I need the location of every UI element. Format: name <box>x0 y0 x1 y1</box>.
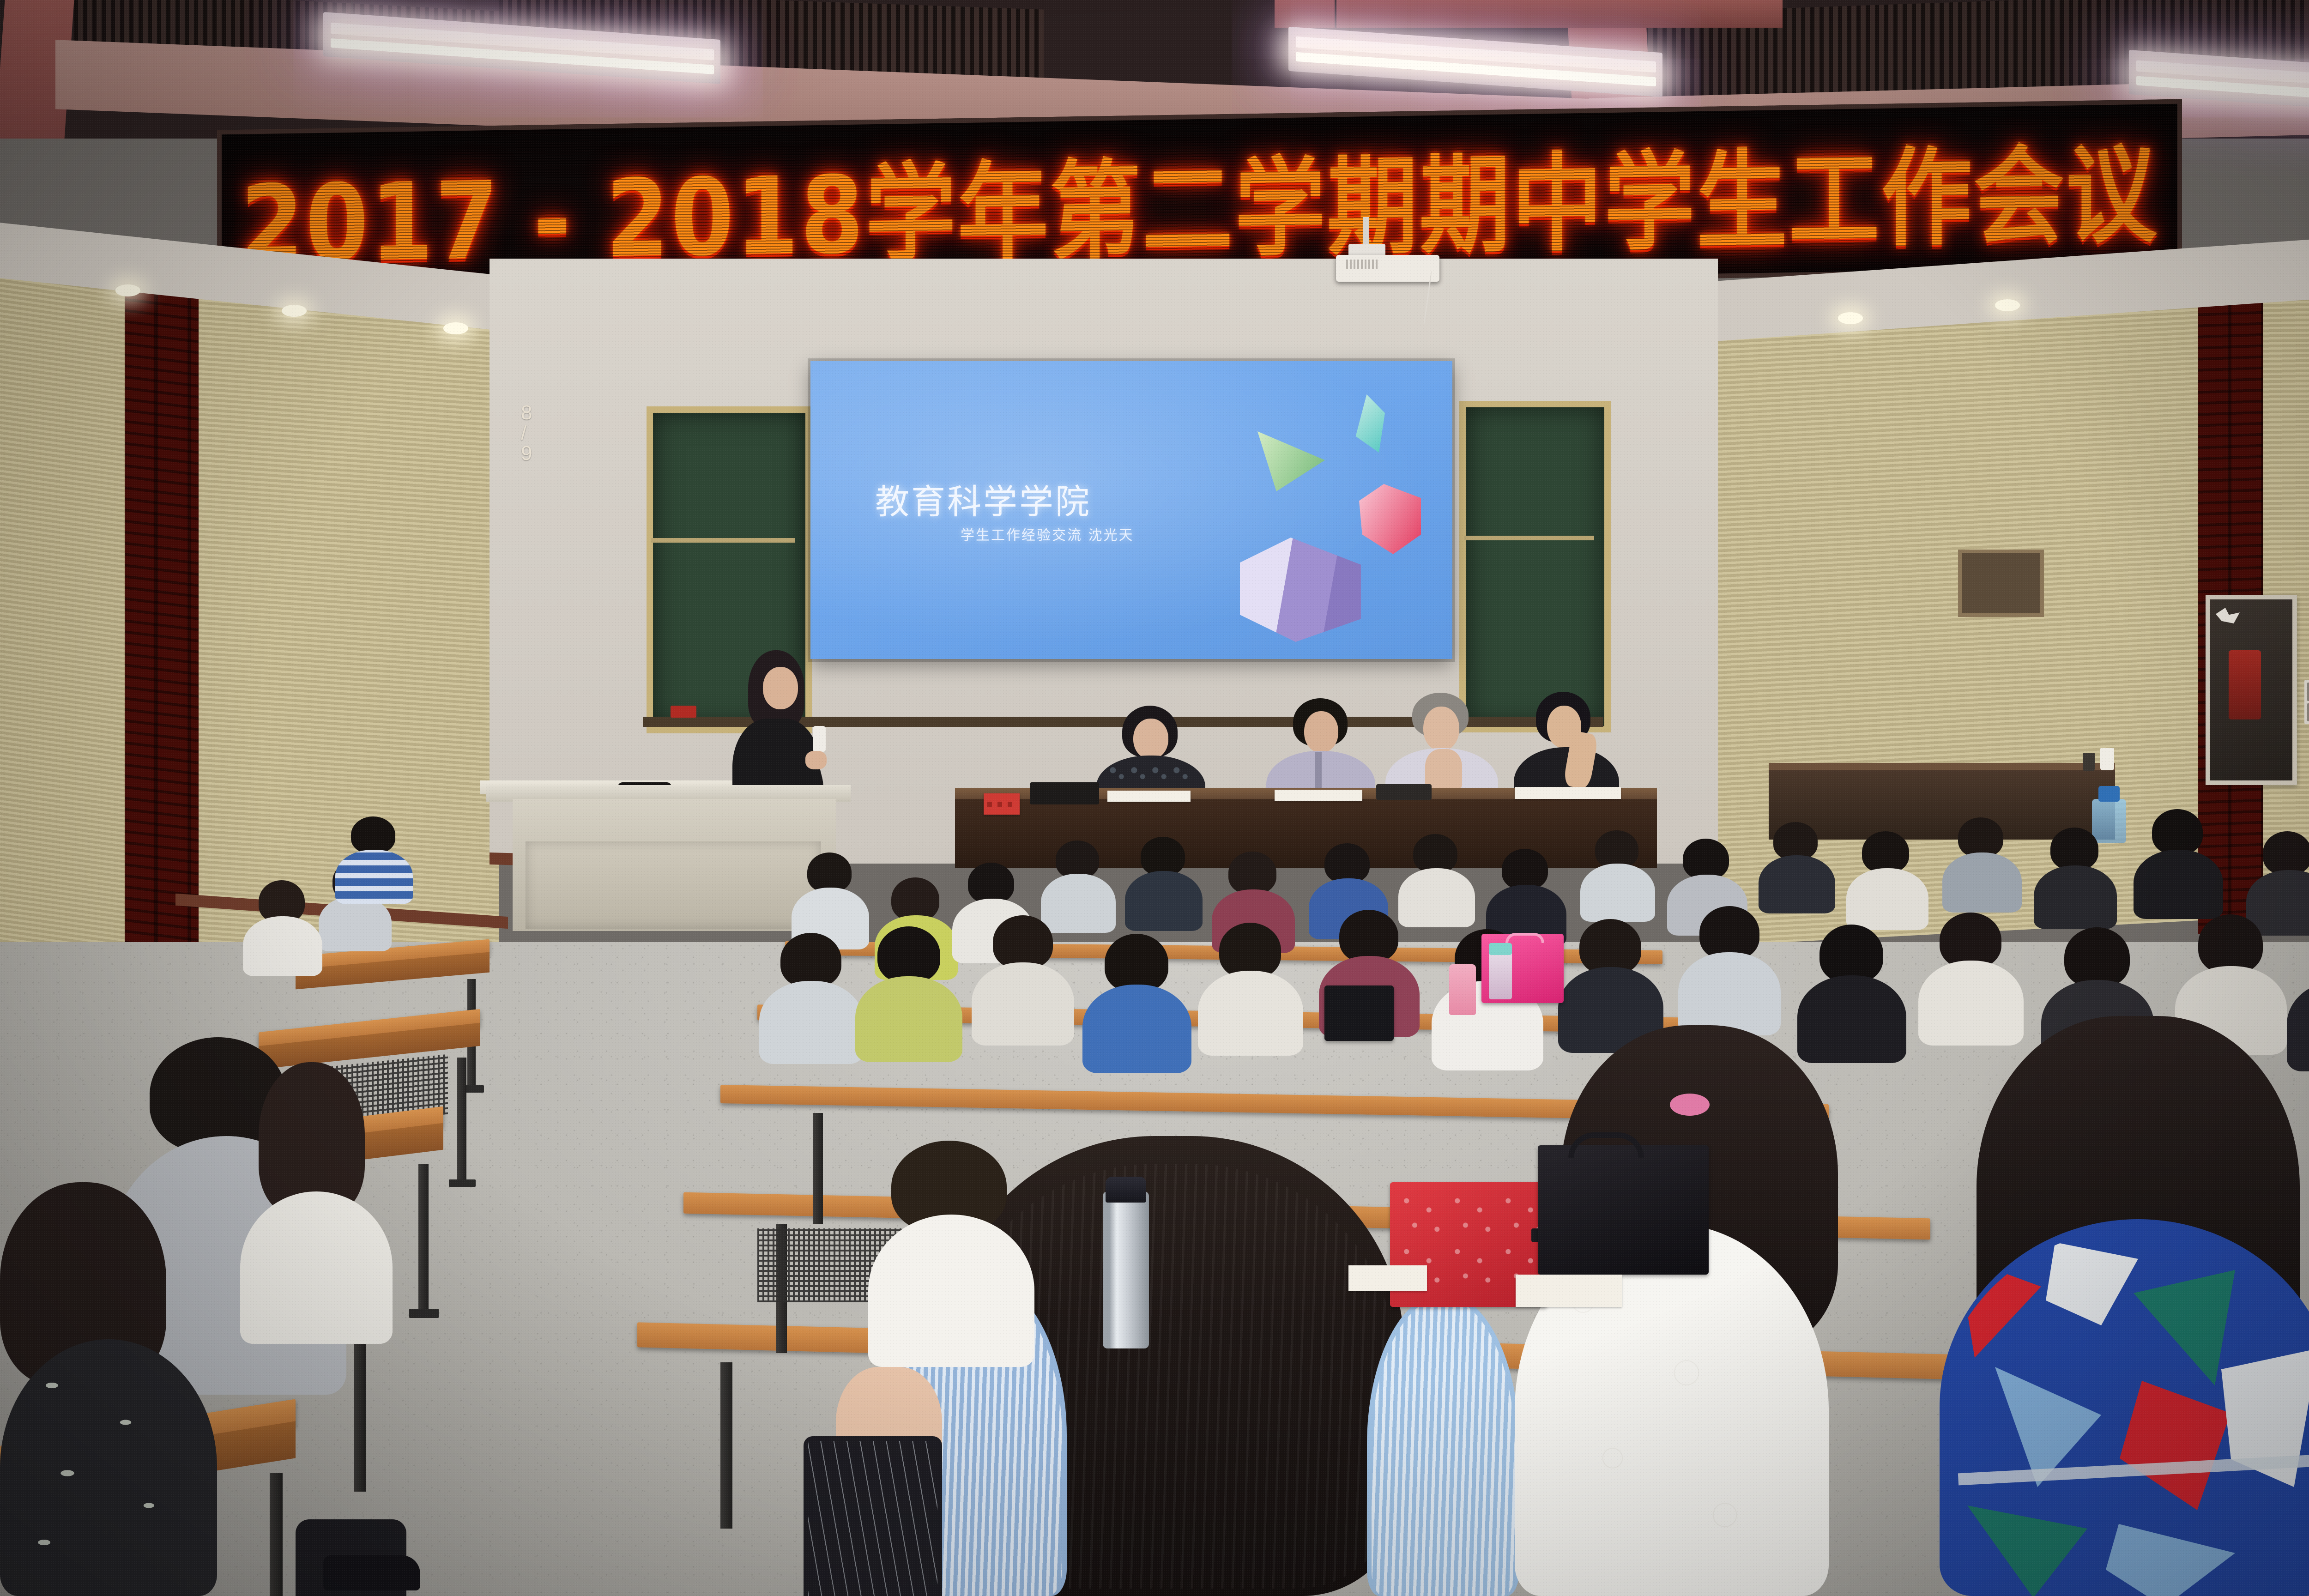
black-leather-handbag <box>1538 1145 1709 1275</box>
downlight-icon <box>115 284 140 296</box>
switch[interactable] <box>2307 703 2309 722</box>
pink-handbag-handle <box>1505 933 1544 943</box>
desk-leg <box>270 1473 283 1596</box>
fire-extinguisher <box>2229 650 2261 719</box>
stripe-pattern <box>1372 1298 1515 1596</box>
cup-dark <box>2083 753 2095 771</box>
black-handbag <box>1324 985 1394 1041</box>
downlight-icon <box>282 305 307 317</box>
water-jug <box>2092 799 2126 843</box>
slide-title: 教育科学学院 <box>875 474 1091 524</box>
paper-sheet <box>1516 1275 1622 1307</box>
laptop-lid <box>1030 782 1099 804</box>
wall-frame <box>1958 550 2044 617</box>
hair-tie <box>1670 1094 1710 1116</box>
white-top-woman <box>240 1191 393 1344</box>
switch[interactable] <box>2307 683 2309 701</box>
bird-print-pattern <box>9 1353 203 1584</box>
downlight-icon <box>1838 312 1863 324</box>
slide-subtitle: 学生工作经验交流 沈光天 <box>961 524 1134 544</box>
brick-column-left <box>125 254 206 984</box>
microphone-base <box>1376 784 1432 800</box>
wall-room-number: 8 / 9 <box>521 403 537 467</box>
paper-sheet <box>1348 1265 1427 1291</box>
projector-vent <box>1346 260 1378 269</box>
fire-extinguisher-cabinet[interactable] <box>2206 595 2297 785</box>
console-panel[interactable] <box>526 841 821 929</box>
pinstripe-pattern <box>808 1441 937 1596</box>
downlight-icon <box>443 322 468 334</box>
light-stem <box>1335 0 1336 31</box>
desk-leg <box>720 1362 732 1529</box>
eraser <box>671 706 696 718</box>
desk-leg <box>813 1113 823 1224</box>
paper-cup <box>2100 748 2114 770</box>
shoe <box>323 1555 420 1590</box>
presenter-hand <box>805 751 827 769</box>
clear-bottle <box>1489 950 1512 999</box>
nameplate <box>984 793 1020 815</box>
desk-leg <box>418 1164 429 1316</box>
water-jug-cap <box>2098 786 2120 802</box>
teal-bottle-cap <box>1489 943 1512 955</box>
presenter-remote <box>813 726 826 752</box>
paper-stack <box>1107 791 1191 802</box>
desk-foot <box>449 1179 476 1187</box>
rear-counter <box>1769 770 2115 840</box>
lecture-hall-photo: 2017 - 2018学年第二学期期中学生工作会议 8 / 9 教育科学学院 学… <box>0 0 2309 1596</box>
light-stem <box>665 0 667 36</box>
projector <box>1336 255 1439 282</box>
chalk-rail <box>651 538 795 543</box>
projector-stem <box>1363 217 1369 246</box>
desk-leg <box>457 1058 466 1187</box>
nameplate-text <box>987 802 1016 807</box>
steel-thermos <box>1103 1191 1149 1348</box>
pink-water-bottle <box>1449 964 1476 1015</box>
paper-stack <box>1275 790 1362 801</box>
light-switch-panel[interactable] <box>2304 680 2309 724</box>
white-tshirt-person <box>868 1215 1034 1367</box>
chalk-rail <box>1464 536 1594 540</box>
projection-screen: 教育科学学院 学生工作经验交流 沈光天 <box>810 361 1452 659</box>
desk-foot <box>409 1309 439 1318</box>
geometric-pattern <box>1940 1228 2309 1596</box>
paper-stack <box>1515 787 1621 799</box>
thermos-cap <box>1106 1177 1146 1203</box>
chalkboard-right <box>1459 401 1611 732</box>
downlight-icon <box>1995 299 2020 311</box>
